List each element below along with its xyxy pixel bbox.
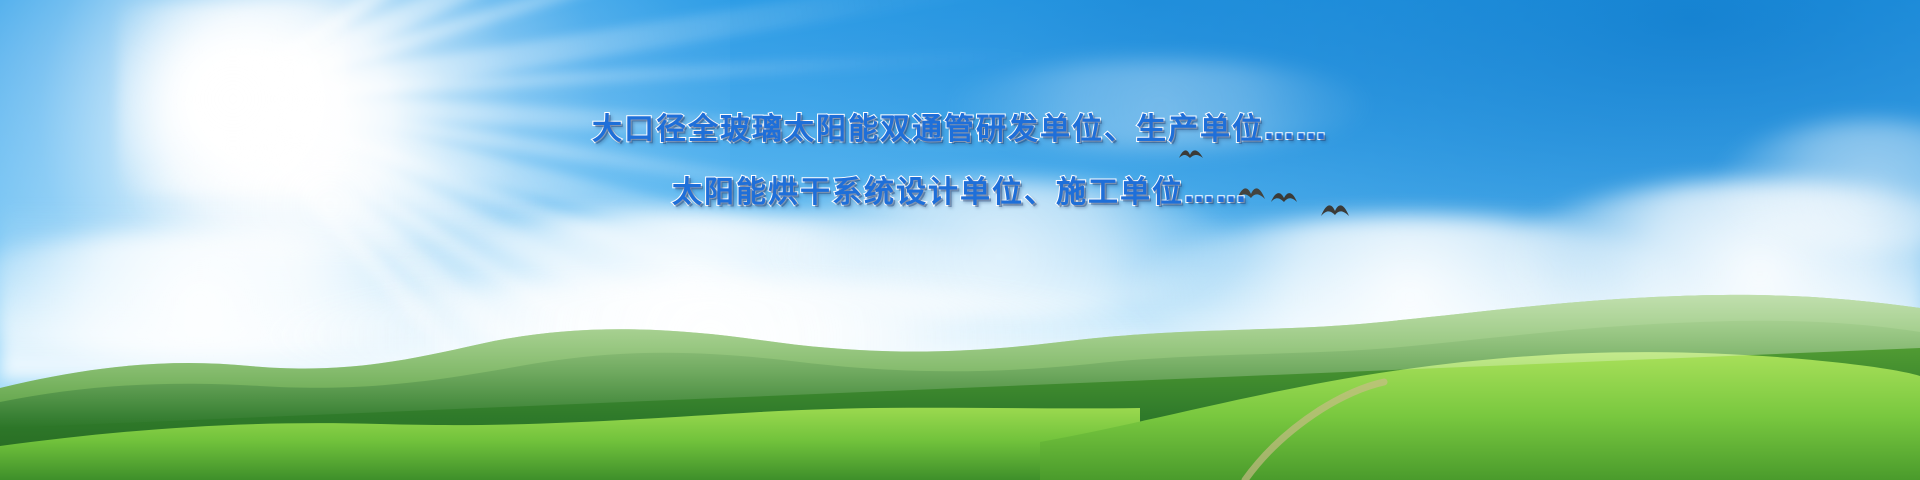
green-hills bbox=[0, 270, 1920, 480]
headline-line-2: 太阳能烘干系统设计单位、施工单位…… bbox=[0, 167, 1920, 211]
bird-icon-1 bbox=[1178, 146, 1204, 164]
hero-banner: 大口径全玻璃太阳能双通管研发单位、生产单位…… 太阳能烘干系统设计单位、施工单位… bbox=[0, 0, 1920, 480]
headline-line-1: 大口径全玻璃太阳能双通管研发单位、生产单位…… bbox=[0, 104, 1920, 148]
